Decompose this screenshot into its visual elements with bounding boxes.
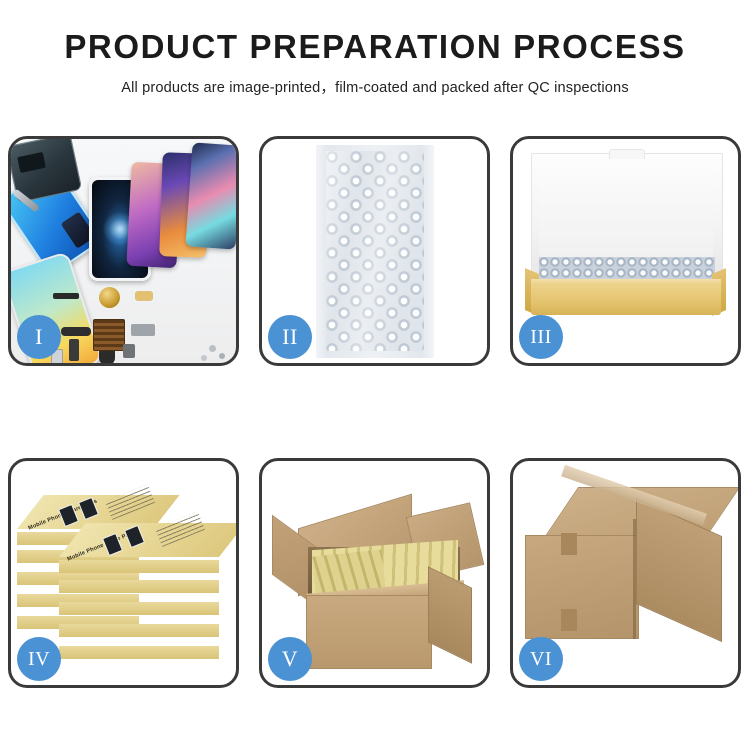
- step-panel-2: II: [259, 136, 490, 366]
- flex-cable-part-2: [131, 324, 155, 336]
- stack-box-br-2: [59, 593, 219, 615]
- step-panel-6: VI: [510, 458, 741, 688]
- step-panel-5: V: [259, 458, 490, 688]
- carton-front-panel: [525, 535, 639, 639]
- step-badge-2: II: [268, 315, 312, 359]
- carton-front-panel: [306, 595, 432, 669]
- step-badge-1: I: [17, 315, 61, 359]
- box-front: [59, 602, 219, 615]
- carton-corner-seam: [633, 519, 636, 639]
- carton-right-panel: [428, 566, 472, 663]
- box-front: [59, 560, 219, 573]
- flex-cable-part-1: [135, 291, 153, 301]
- product-preparation-infographic: PRODUCT PREPARATION PROCESS All products…: [0, 0, 750, 750]
- page-subtitle: All products are image-printed，film-coat…: [0, 76, 750, 97]
- copper-coil-part: [99, 287, 120, 308]
- connector-part: [69, 339, 79, 361]
- steps-grid: I II III: [8, 136, 742, 688]
- page-title: PRODUCT PREPARATION PROCESS: [0, 30, 750, 65]
- header: PRODUCT PREPARATION PROCESS All products…: [0, 0, 750, 97]
- box-inner-surface: [539, 173, 713, 265]
- step-badge-6: VI: [519, 637, 563, 681]
- step-panel-3: III: [510, 136, 741, 366]
- phone-screen-wave: [185, 142, 236, 249]
- screw-part-3: [201, 355, 207, 361]
- box-front-panel: [531, 285, 721, 315]
- screw-part-1: [209, 345, 216, 352]
- carton-handle-tab-top: [561, 533, 577, 555]
- box-front: [59, 580, 219, 593]
- carton-handle-tab-bottom: [561, 609, 577, 631]
- stack-box-br-1: [59, 571, 219, 593]
- screw-part-2: [219, 353, 225, 359]
- step-badge-5: V: [268, 637, 312, 681]
- stack-box-br-3: [59, 615, 219, 637]
- bubble-film-gloss: [326, 151, 424, 351]
- chip-grid-part: [93, 319, 125, 351]
- speaker-module-part: [99, 351, 115, 363]
- box-front: [59, 646, 219, 659]
- step-panel-4: Mobile Phone Spare Parts: [8, 458, 239, 688]
- step-badge-4: IV: [17, 637, 61, 681]
- step-badge-3: III: [519, 315, 563, 359]
- speaker-bar-part: [53, 293, 79, 299]
- box-front: [59, 624, 219, 637]
- step-panel-1: I: [8, 136, 239, 366]
- flex-cable-part-3: [61, 327, 91, 336]
- stack-box-br-4: [59, 637, 219, 659]
- camera-module-part: [123, 344, 135, 358]
